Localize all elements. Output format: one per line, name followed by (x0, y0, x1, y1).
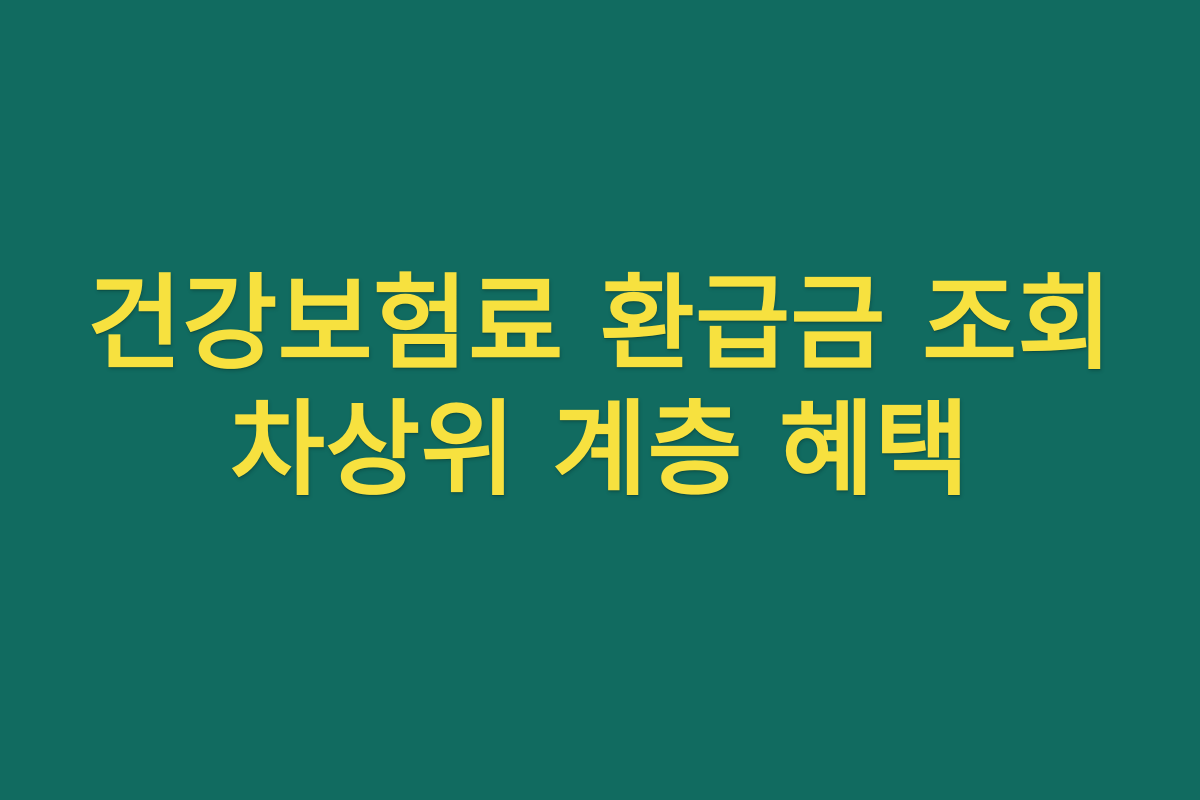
headline-line-2: 차상위 계층 혜택 (0, 388, 1200, 514)
headline-line-1: 건강보험료 환급금 조회 (0, 262, 1200, 388)
banner-canvas: 건강보험료 환급금 조회 차상위 계층 혜택 (0, 0, 1200, 800)
headline-block: 건강보험료 환급금 조회 차상위 계층 혜택 (0, 262, 1200, 513)
